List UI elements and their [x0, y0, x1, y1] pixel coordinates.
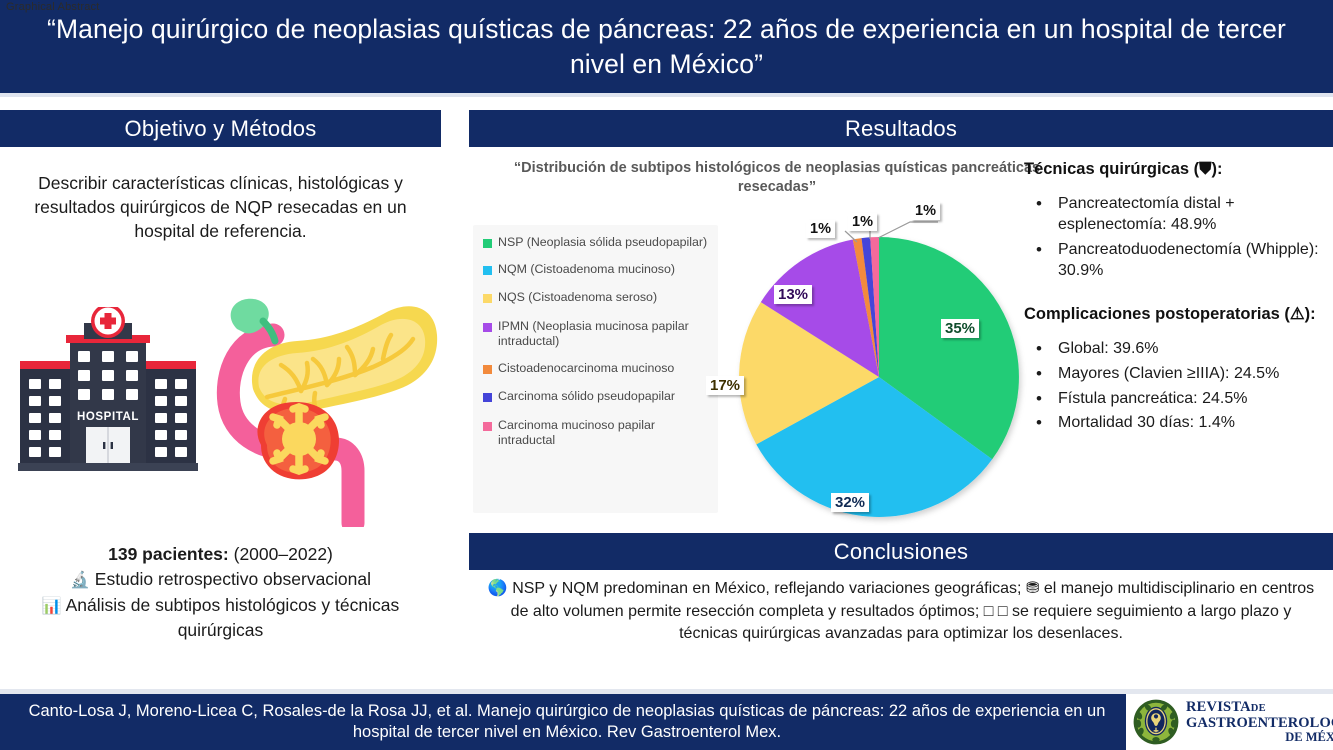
objetivo-body-text: Describir características clínicas, hist…: [14, 171, 427, 243]
study-patients-line: 139 pacientes: (2000–2022): [0, 542, 441, 567]
chart-legend: NSP (Neoplasia sólida pseudopapilar) NQM…: [473, 225, 718, 513]
list-item: Global: 39.6%: [1024, 339, 1329, 360]
objetivo-panel: Describir características clínicas, hist…: [0, 147, 441, 687]
missing-glyph-2: □: [998, 603, 1008, 620]
study-analysis-text: Análisis de subtipos histológicos y técn…: [66, 595, 400, 641]
legend-item: Cistoadenocarcinoma mucinoso: [483, 361, 712, 377]
pie-chart: 35% 32% 17% 13% 1% 1% 1%: [714, 209, 1044, 529]
tecnicas-heading: Técnicas quirúrgicas (⛊):: [1024, 159, 1329, 180]
pie-value-label-carcinoma-solido: 1%: [848, 213, 877, 231]
section-header-objetivo: Objetivo y Métodos: [0, 110, 441, 147]
legend-item: NQS (Cistoadenoma seroso): [483, 290, 712, 306]
globe-icon: 🌎: [488, 580, 508, 597]
journal-logo-text: REVISTADE GASTROENTEROLOGÍA DE MÉXICO: [1186, 700, 1333, 743]
shield-icon: ⛃: [1026, 580, 1039, 597]
legend-item: IPMN (Neoplasia mucinosa papilar intradu…: [483, 319, 712, 350]
legend-label: NQS (Cistoadenoma seroso): [498, 290, 657, 306]
resultados-panel: “Distribución de subtipos histológicos d…: [469, 147, 1333, 533]
title-divider: [0, 93, 1333, 97]
list-item: Fístula pancreática: 24.5%: [1024, 389, 1329, 410]
pie-value-label-nsp: 35%: [941, 319, 979, 338]
tumor-shape: [257, 402, 339, 479]
section-header-resultados: Resultados: [469, 110, 1333, 147]
complicaciones-heading: Complicaciones postoperatorias (⚠):: [1024, 304, 1329, 325]
journal-emblem-icon: [1132, 698, 1180, 746]
legend-swatch: [483, 323, 492, 332]
section-header-resultados-label: Resultados: [845, 116, 957, 142]
pie-value-label-cistoadenocarcinoma: 1%: [806, 220, 835, 238]
journal-logo-line1-main: REVISTA: [1186, 699, 1251, 715]
study-design-line: 🔬 Estudio retrospectivo observacional: [0, 567, 441, 593]
section-header-conclusiones-label: Conclusiones: [834, 539, 968, 565]
legend-swatch: [483, 239, 492, 248]
conclusiones-part1: NSP y NQM predominan en México, reflejan…: [512, 580, 1021, 597]
footer-bar: Canto-Losa J, Moreno-Licea C, Rosales-de…: [0, 694, 1333, 750]
list-item: Pancreatoduodenectomía (Whipple): 30.9%: [1024, 240, 1329, 282]
stats-column: Técnicas quirúrgicas (⛊): Pancreatectomí…: [1024, 159, 1329, 456]
list-item: Mayores (Clavien ≥IIIA): 24.5%: [1024, 364, 1329, 385]
hospital-sign-text: HOSPITAL: [77, 411, 139, 423]
section-header-conclusiones: Conclusiones: [469, 533, 1333, 570]
legend-label: Cistoadenocarcinoma mucinoso: [498, 361, 674, 377]
legend-label: Carcinoma sólido pseudopapilar: [498, 389, 675, 405]
pie-value-label-nqs: 17%: [706, 376, 744, 395]
journal-logo-line1: REVISTADE: [1186, 700, 1333, 715]
section-header-objetivo-label: Objetivo y Métodos: [125, 116, 317, 142]
legend-swatch: [483, 266, 492, 275]
journal-logo: REVISTADE GASTROENTEROLOGÍA DE MÉXICO: [1126, 694, 1333, 750]
legend-swatch: [483, 294, 492, 303]
study-patients-period: (2000–2022): [234, 544, 333, 564]
study-patients-label: 139 pacientes:: [108, 544, 229, 564]
legend-item: Carcinoma mucinoso papilar intraductal: [483, 418, 712, 449]
microscope-icon: 🔬: [70, 572, 90, 589]
study-analysis-line: 📊 Análisis de subtipos histológicos y té…: [0, 593, 441, 644]
legend-swatch: [483, 422, 492, 431]
pie-chart-svg: [714, 209, 1044, 529]
title-bar: “Manejo quirúrgico de neoplasias quístic…: [0, 0, 1333, 93]
pancreas-illustration: [215, 277, 445, 527]
bar-chart-icon: 📊: [42, 598, 62, 615]
journal-logo-line1-de: DE: [1251, 703, 1266, 714]
list-item: Mortalidad 30 días: 1.4%: [1024, 413, 1329, 434]
graphical-abstract-tag: Graphical Abstract: [6, 1, 99, 13]
conclusiones-body: 🌎 NSP y NQM predominan en México, reflej…: [469, 572, 1333, 646]
pie-value-label-nqm: 32%: [831, 493, 869, 512]
legend-label: NSP (Neoplasia sólida pseudopapilar): [498, 235, 707, 251]
journal-logo-line3: DE MÉXICO: [1186, 731, 1333, 744]
complicaciones-list: Global: 39.6% Mayores (Clavien ≥IIIA): 2…: [1024, 339, 1329, 434]
legend-swatch: [483, 393, 492, 402]
legend-item: NQM (Cistoadenoma mucinoso): [483, 262, 712, 278]
study-facts: 139 pacientes: (2000–2022) 🔬 Estudio ret…: [0, 542, 441, 643]
legend-item: NSP (Neoplasia sólida pseudopapilar): [483, 235, 712, 251]
graphical-abstract-page: “Manejo quirúrgico de neoplasias quístic…: [0, 0, 1333, 750]
legend-label: IPMN (Neoplasia mucinosa papilar intradu…: [498, 319, 712, 350]
citation-text: Canto-Losa J, Moreno-Licea C, Rosales-de…: [8, 694, 1126, 750]
missing-glyph-1: □: [984, 603, 994, 620]
pie-value-label-ipmn: 13%: [774, 285, 812, 304]
page-title: “Manejo quirúrgico de neoplasias quístic…: [47, 12, 1287, 82]
journal-logo-line2: GASTROENTEROLOGÍA: [1186, 716, 1333, 731]
legend-item: Carcinoma sólido pseudopapilar: [483, 389, 712, 405]
chart-title: “Distribución de subtipos histológicos d…: [507, 159, 1047, 197]
legend-swatch: [483, 365, 492, 374]
pie-value-label-carcinoma-mucinoso: 1%: [911, 202, 940, 220]
legend-label: NQM (Cistoadenoma mucinoso): [498, 262, 675, 278]
legend-label: Carcinoma mucinoso papilar intraductal: [498, 418, 712, 449]
tecnicas-list: Pancreatectomía distal + esplenectomía: …: [1024, 194, 1329, 281]
hospital-illustration: HOSPITAL: [18, 307, 198, 482]
list-item: Pancreatectomía distal + esplenectomía: …: [1024, 194, 1329, 236]
study-design-text: Estudio retrospectivo observacional: [95, 569, 371, 589]
illustration-group: HOSPITAL: [0, 267, 441, 532]
